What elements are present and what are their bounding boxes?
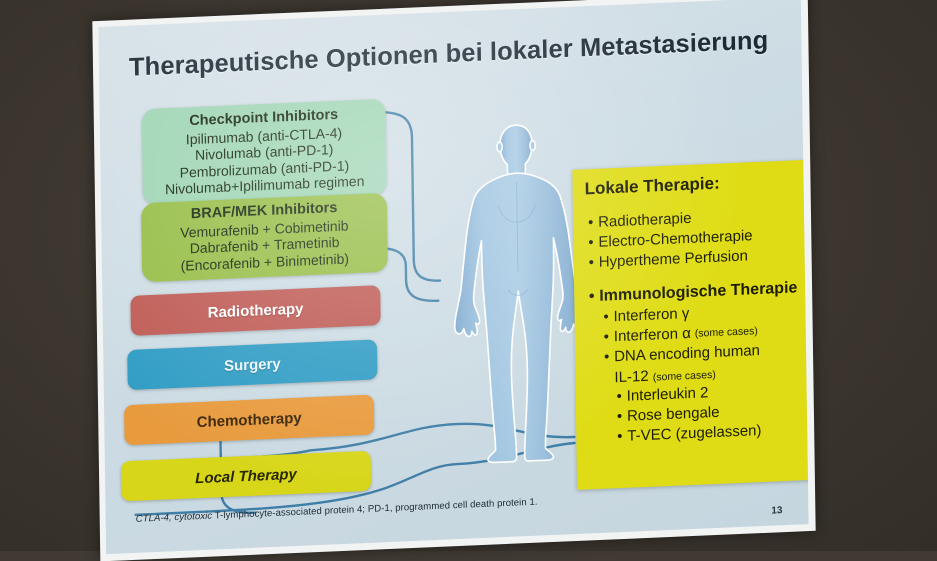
bar-chemotherapy[interactable]: Chemotherapy: [124, 395, 374, 446]
footnote-abbrev: CTLA-4, cytotoxic: [136, 511, 213, 525]
bar-radiotherapy-label: Radiotherapy: [208, 300, 304, 321]
bullet-icon: •: [598, 307, 613, 327]
bar-chemotherapy-label: Chemotherapy: [197, 409, 302, 430]
bullet-icon: •: [599, 327, 614, 347]
bar-local-therapy[interactable]: Local Therapy: [121, 451, 371, 502]
bullet-icon: •: [612, 427, 627, 447]
bar-radiotherapy[interactable]: Radiotherapy: [130, 285, 380, 336]
immuno-item-label: Interferon γ: [613, 304, 689, 326]
local-therapy-panel[interactable]: Lokale Therapie: • Radiotherapie • Elect…: [572, 159, 808, 490]
immuno-item-note: (some cases): [653, 368, 716, 383]
local-therapy-item-label: Radiotherapie: [598, 209, 692, 232]
immuno-item-label: Interferon α: [614, 324, 691, 346]
page-number: 13: [771, 505, 782, 516]
footnote-text: T-lymphocyte-associated protein 4; PD-1,…: [212, 497, 537, 522]
immuno-item-note: (some cases): [695, 325, 758, 343]
immuno-item-label: IL-12: [614, 367, 648, 385]
bullet-icon: •: [584, 286, 599, 307]
slide-canvas: Therapeutische Optionen bei lokaler Meta…: [98, 0, 808, 554]
bullet-icon: •: [612, 387, 627, 407]
bullet-icon: •: [599, 348, 614, 368]
photo-background: Therapeutische Optionen bei lokaler Meta…: [0, 0, 937, 551]
immuno-item-label: Interleukin 2: [627, 383, 709, 406]
projected-slide: Therapeutische Optionen bei lokaler Meta…: [92, 0, 815, 561]
bullet-icon: •: [583, 213, 598, 233]
checkpoint-inhibitors-box[interactable]: Checkpoint Inhibitors Ipilimumab (anti-C…: [142, 99, 387, 206]
local-therapy-title: Lokale Therapie:: [585, 169, 809, 199]
bullet-icon: •: [584, 253, 599, 273]
bar-surgery-label: Surgery: [224, 355, 281, 374]
braf-mek-inhibitors-box[interactable]: BRAF/MEK Inhibitors Vemurafenib + Cobime…: [141, 193, 388, 282]
slide-title: Therapeutische Optionen bei lokaler Meta…: [129, 26, 779, 83]
immuno-item-label: Rose bengale: [627, 403, 720, 426]
bar-local-therapy-label: Local Therapy: [195, 465, 297, 486]
bullet-icon: •: [583, 233, 598, 253]
bullet-icon: •: [612, 407, 627, 427]
bar-surgery[interactable]: Surgery: [127, 339, 377, 390]
